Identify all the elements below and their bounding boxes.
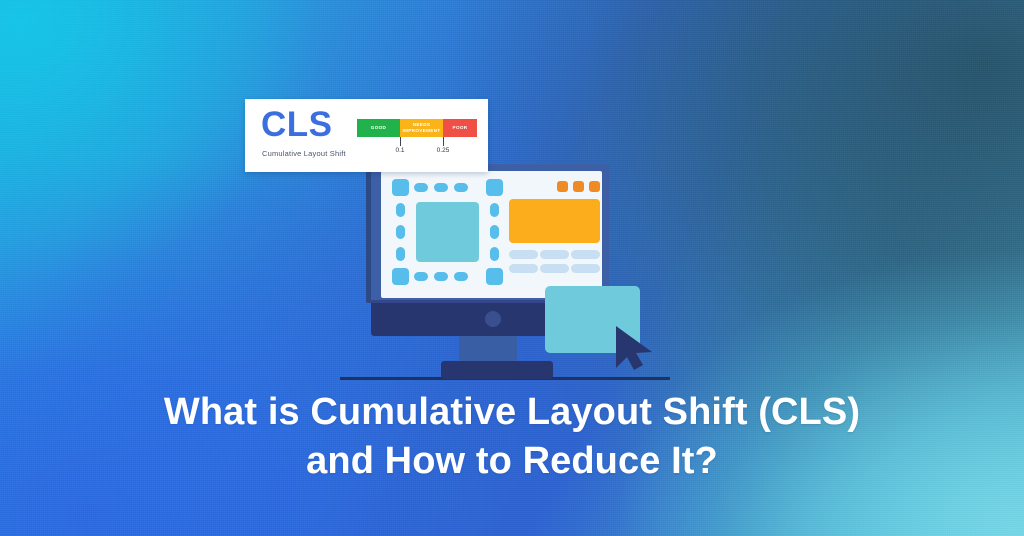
text-pill [509,264,538,273]
placeholder-dash-top-2 [434,183,448,192]
placeholder-dash-left-2 [396,225,405,239]
cls-threshold-gauge: GOOD NEEDSIMPROVEMENT POOR [357,119,477,137]
placeholder-dash-left-3 [396,247,405,261]
placeholder-dash-right-1 [490,203,499,217]
gauge-segment-needs-improvement: NEEDSIMPROVEMENT [400,119,443,137]
placeholder-image-block [416,202,479,262]
text-pill [540,250,569,259]
placeholder-dash-right-3 [490,247,499,261]
page-title-line-1: What is Cumulative Layout Shift (CLS) [0,388,1024,437]
gauge-threshold-label-2: 0.25 [437,147,450,154]
placeholder-corner-top-right [486,179,503,196]
page-title-line-2: and How to Reduce It? [0,437,1024,486]
gauge-threshold-label-1: 0.1 [395,147,404,154]
power-button-icon [485,311,501,327]
placeholder-dash-right-2 [490,225,499,239]
mouse-cursor-icon [612,324,658,372]
cls-subtitle: Cumulative Layout Shift [262,149,346,158]
cls-acronym: CLS [261,107,333,142]
hero-banner-block [509,199,600,243]
placeholder-corner-top-left [392,179,409,196]
window-dots [557,181,600,192]
placeholder-dash-bottom-3 [454,272,468,281]
text-pill [571,264,600,273]
window-dot-1 [557,181,568,192]
text-pill [571,250,600,259]
window-dot-2 [573,181,584,192]
placeholder-dash-left-1 [396,203,405,217]
page-title: What is Cumulative Layout Shift (CLS) an… [0,388,1024,487]
cls-metric-card: CLS Cumulative Layout Shift GOOD NEEDSIM… [245,99,488,172]
gauge-segment-poor: POOR [443,119,477,137]
placeholder-dash-top-3 [454,183,468,192]
gauge-tick-poor-limit [443,137,444,146]
text-pill-grid [509,250,600,273]
monitor-stand-base [441,361,553,379]
cls-banner: CLS Cumulative Layout Shift GOOD NEEDSIM… [0,0,1024,536]
layout-placeholder-frame [392,179,503,285]
placeholder-corner-bottom-left [392,268,409,285]
gauge-segment-good: GOOD [357,119,400,137]
text-pill [509,250,538,259]
window-dot-3 [589,181,600,192]
placeholder-corner-bottom-right [486,268,503,285]
text-pill [540,264,569,273]
placeholder-dash-top-1 [414,183,428,192]
placeholder-dash-bottom-2 [434,272,448,281]
gauge-tick-good-limit [400,137,401,146]
placeholder-dash-bottom-1 [414,272,428,281]
